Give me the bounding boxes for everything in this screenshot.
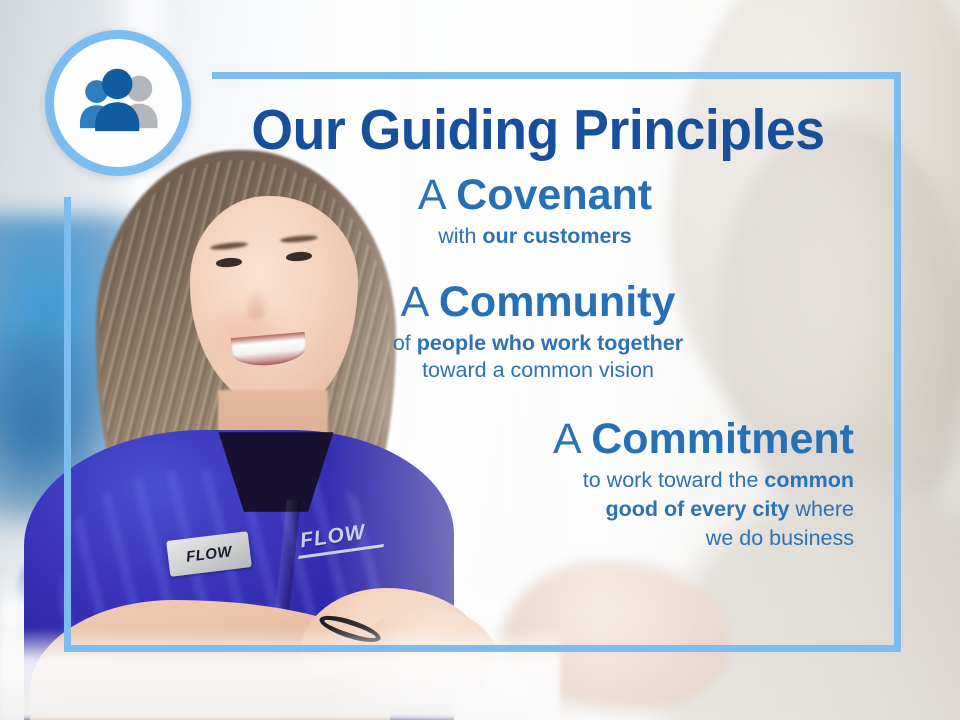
subtext-line: good of every city where: [200, 495, 854, 524]
subtext-line: to work toward the common: [200, 466, 854, 495]
principles-content: Our Guiding Principles A Covenant with o…: [200, 78, 900, 643]
principle-subtext: with our customers: [200, 223, 870, 251]
principle-heading: A Community: [200, 280, 876, 326]
subtext-segment: toward a common vision: [422, 358, 654, 382]
subtext-segment-strong: our customers: [482, 224, 631, 248]
subtext-segment-strong: people who work together: [417, 331, 683, 355]
subtext-line: toward a common vision: [200, 357, 876, 385]
page-title: Our Guiding Principles: [220, 102, 855, 159]
principle-subtext: of people who work together toward a com…: [200, 330, 876, 385]
principle-keyword: Commitment: [591, 415, 854, 463]
principle-keyword: Community: [439, 278, 676, 326]
subtext-segment: of: [393, 331, 417, 355]
subtext-segment: we do business: [706, 526, 854, 550]
subtext-line: we do business: [200, 524, 854, 553]
people-group-badge: [45, 30, 191, 176]
people-group-icon: [72, 68, 164, 138]
principle-subtext: to work toward the common good of every …: [200, 466, 854, 552]
principle-keyword: Covenant: [456, 171, 652, 219]
principle-heading: A Covenant: [200, 173, 870, 219]
principle-article: A: [401, 278, 427, 326]
principle-covenant: A Covenant with our customers: [200, 173, 876, 250]
frame-bottom-edge: [64, 645, 901, 652]
subtext-line: of people who work together: [200, 330, 876, 358]
principle-article: A: [553, 415, 579, 463]
principle-community: A Community of people who work together …: [200, 280, 876, 385]
principle-commitment: A Commitment to work toward the common g…: [200, 417, 876, 553]
subtext-segment: to work toward the: [583, 468, 765, 492]
poster-canvas: FLOW FLOW Our Guiding Princ: [0, 0, 960, 720]
principle-heading: A Commitment: [200, 417, 854, 463]
subtext-segment-strong: common: [764, 468, 854, 492]
frame-left-edge: [64, 197, 71, 652]
principle-article: A: [418, 171, 444, 219]
subtext-segment-strong: good of every city: [605, 497, 789, 521]
subtext-segment: where: [789, 497, 854, 521]
subtext-segment: with: [438, 224, 482, 248]
